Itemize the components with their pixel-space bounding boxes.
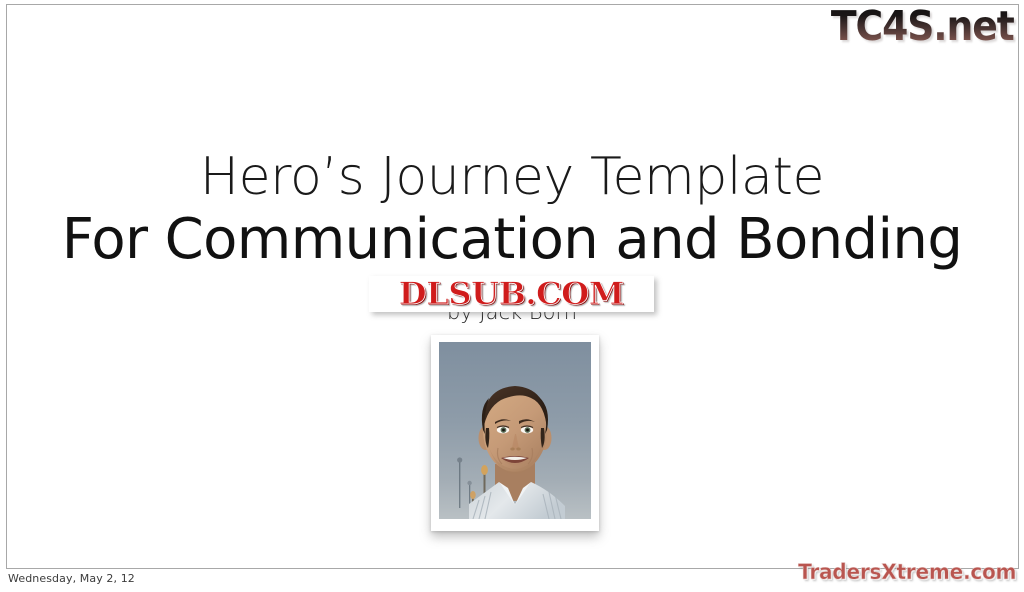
dlsub-watermark: DLSUB.COM	[369, 276, 654, 312]
presentation-slide: TC4S.net TC4S.net Hero’s Journey Templat…	[0, 0, 1024, 592]
author-photo	[439, 342, 591, 519]
portrait-photo-icon	[439, 342, 591, 519]
tc4s-logo: TC4S.net	[831, 2, 1014, 50]
author-photo-frame	[431, 335, 599, 531]
slide-border-left	[6, 4, 7, 569]
tradersxtreme-logo: TradersXtreme.com	[798, 561, 1016, 584]
slide-title: Hero’s Journey Template For Communicatio…	[0, 148, 1024, 272]
slide-date: Wednesday, May 2, 12	[8, 572, 135, 585]
title-line-2: For Communication and Bonding	[0, 208, 1024, 272]
title-line-1: Hero’s Journey Template	[0, 148, 1024, 206]
slide-border-right	[1018, 4, 1019, 569]
dlsub-watermark-text: DLSUB.COM	[399, 279, 624, 310]
